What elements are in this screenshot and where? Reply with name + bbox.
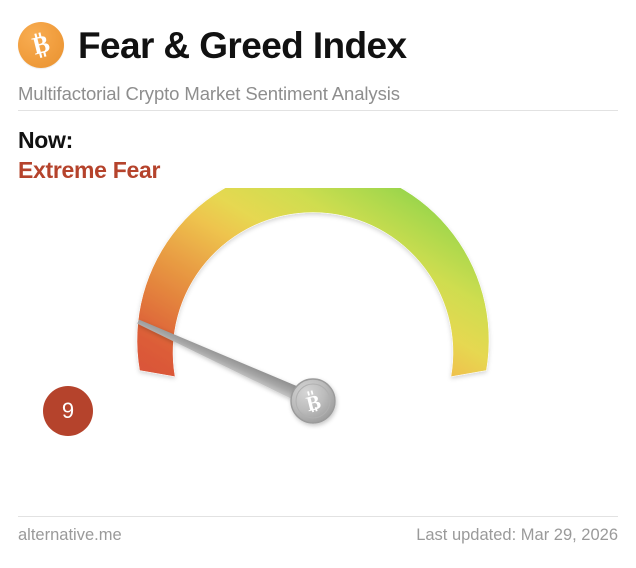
- last-updated-label: Last updated: Mar 29, 2026: [416, 526, 618, 545]
- gauge-needle-hub: B: [291, 379, 335, 423]
- page-title: Fear & Greed Index: [78, 27, 407, 64]
- status-classification: Extreme Fear: [18, 157, 160, 183]
- gauge-chart: B: [0, 188, 636, 498]
- footer-divider: [18, 516, 618, 517]
- page-subtitle: Multifactorial Crypto Market Sentiment A…: [18, 83, 618, 105]
- status-block: Now: Extreme Fear: [18, 127, 160, 184]
- header-divider: [18, 110, 618, 111]
- bitcoin-icon: B: [18, 22, 64, 68]
- footer: alternative.me Last updated: Mar 29, 202…: [18, 526, 618, 545]
- title-row: B Fear & Greed Index: [18, 16, 618, 74]
- header: B Fear & Greed Index Multifactorial Cryp…: [18, 16, 618, 110]
- gauge-svg: B: [0, 188, 636, 498]
- status-now-label: Now:: [18, 127, 160, 153]
- source-label: alternative.me: [18, 526, 122, 545]
- index-value-badge: 9: [43, 386, 93, 436]
- fear-greed-index-card: B Fear & Greed Index Multifactorial Cryp…: [0, 0, 636, 568]
